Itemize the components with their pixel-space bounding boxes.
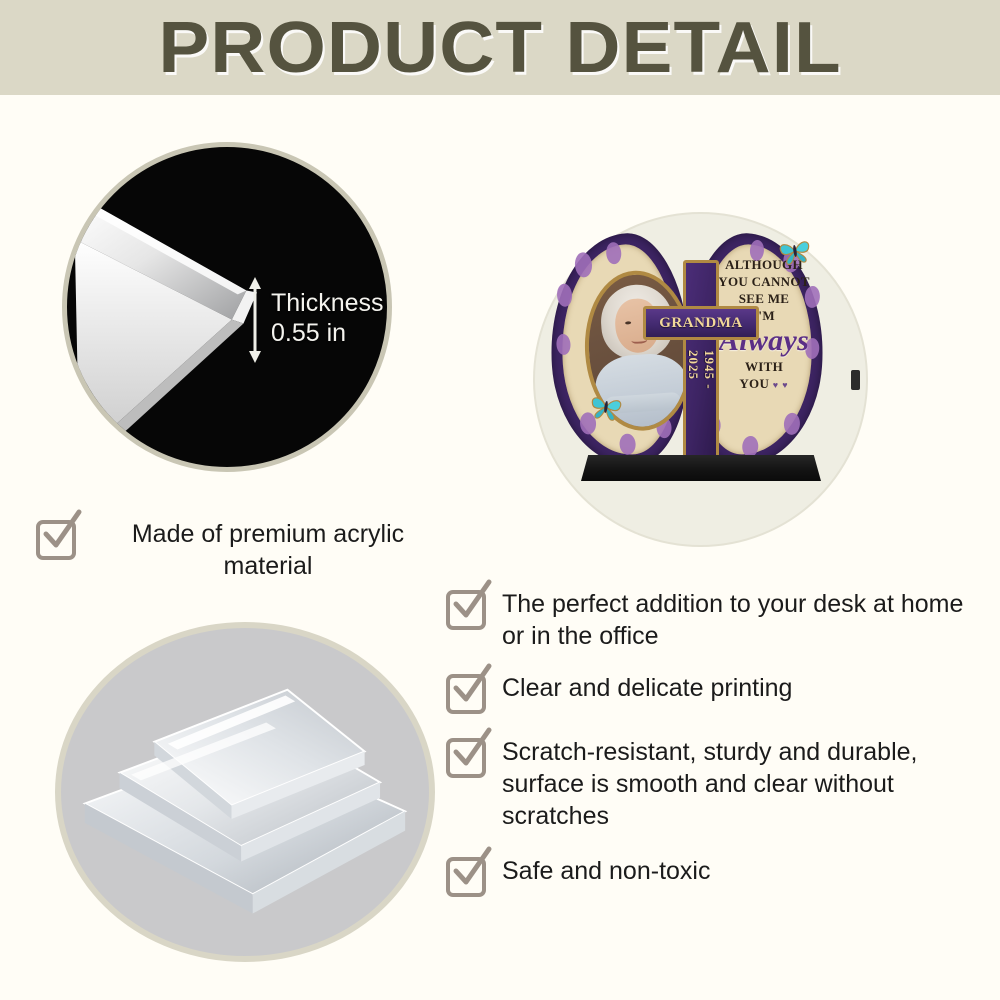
acrylic-edge-photo: Thickness 0.55 in [62,142,392,472]
checkmark-icon [448,848,492,892]
page-title: PRODUCT DETAIL [0,12,1000,84]
feature-label: Made of premium acrylic material [92,518,444,582]
checkbox-checked-icon[interactable] [446,674,486,714]
wing-dot [742,435,759,457]
butterfly-icon [587,392,624,422]
portrait-eye [625,321,631,324]
checkmark-icon [448,581,492,625]
thickness-label: Thickness 0.55 in [271,288,384,348]
verse-line-3: SEE ME [739,291,790,306]
double-arrow-vertical-icon [248,277,262,363]
butterfly-plaque: ALTHOUGH YOU CANNOT SEE ME I'M Always WI… [533,212,868,547]
feature-label: Clear and delicate printing [502,672,792,704]
plaque-edge-notch [851,370,860,390]
cross-dates-label: 1945 - 2025 [683,350,719,410]
plaque-base-stand [581,455,821,481]
feature-item-scratch-resistant: Scratch-resistant, sturdy and durable, s… [446,736,991,832]
butterfly-icon [776,236,813,266]
plaque-left-wing [543,229,697,470]
checkbox-checked-icon[interactable] [446,857,486,897]
checkbox-checked-icon[interactable] [446,738,486,778]
verse-line-2: YOU CANNOT [718,274,809,289]
feature-item-printing: Clear and delicate printing [446,672,991,714]
checkmark-icon [38,511,82,555]
checkbox-checked-icon[interactable] [36,520,76,560]
feature-item-desk: The perfect addition to your desk at hom… [446,588,991,652]
verse-line-6: YOU [739,376,769,391]
checkbox-checked-icon[interactable] [446,590,486,630]
checkmark-icon [448,665,492,709]
heart-icon: ♥ ♥ [773,380,789,390]
wing-dot [783,412,800,435]
feature-label: Safe and non-toxic [502,855,710,887]
feature-item-acrylic: Made of premium acrylic material [36,518,456,582]
feature-label: Scratch-resistant, sturdy and durable, s… [502,736,991,832]
verse-line-5: WITH [745,359,783,374]
cross-name-label: GRANDMA [643,308,759,338]
acrylic-sheets-photo [55,622,435,962]
acrylic-sheets-illustration [61,628,429,956]
checkmark-icon [448,729,492,773]
feature-label: The perfect addition to your desk at hom… [502,588,991,652]
feature-item-safe: Safe and non-toxic [446,855,991,897]
